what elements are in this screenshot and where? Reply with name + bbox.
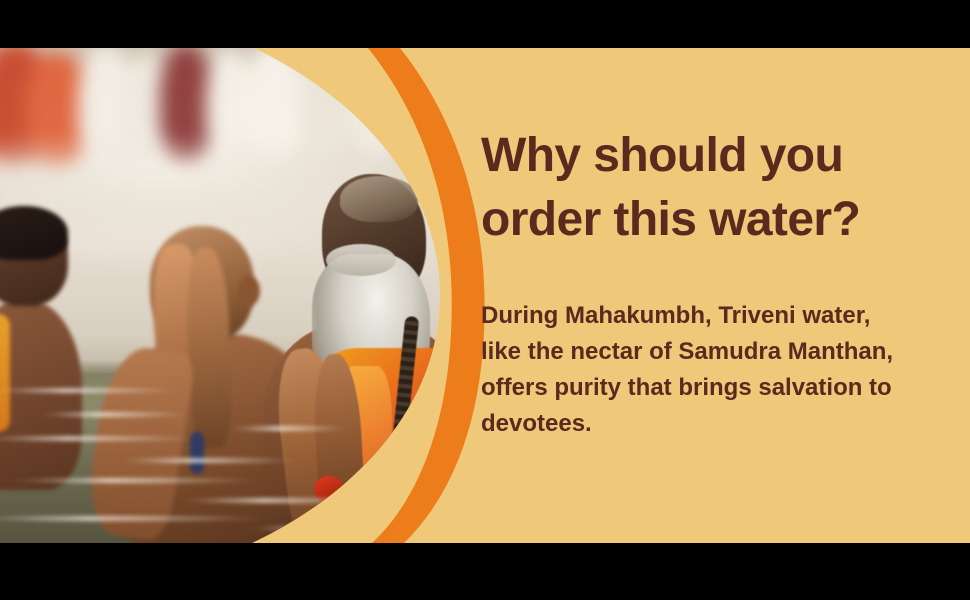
banner-content-band: Why should you order this water? During …: [0, 48, 970, 543]
ripple: [0, 436, 200, 441]
sadhu-forehead-highlight: [340, 176, 418, 222]
headline: Why should you order this water?: [481, 124, 949, 252]
letterbox-bar-bottom: [0, 543, 970, 600]
text-column: Why should you order this water? During …: [481, 48, 951, 543]
ripple: [230, 426, 350, 431]
letterbox-bar-top: [0, 0, 970, 48]
ripple: [0, 516, 270, 521]
devotee-middle-ear: [238, 276, 260, 306]
ripple: [120, 458, 300, 463]
ripple: [40, 412, 190, 417]
sadhu-moustache: [326, 244, 396, 276]
body-copy: During Mahakumbh, Triveni water, like th…: [481, 298, 951, 442]
promo-banner: Why should you order this water? During …: [0, 0, 970, 600]
ripple: [10, 478, 260, 483]
ripple: [0, 388, 180, 393]
